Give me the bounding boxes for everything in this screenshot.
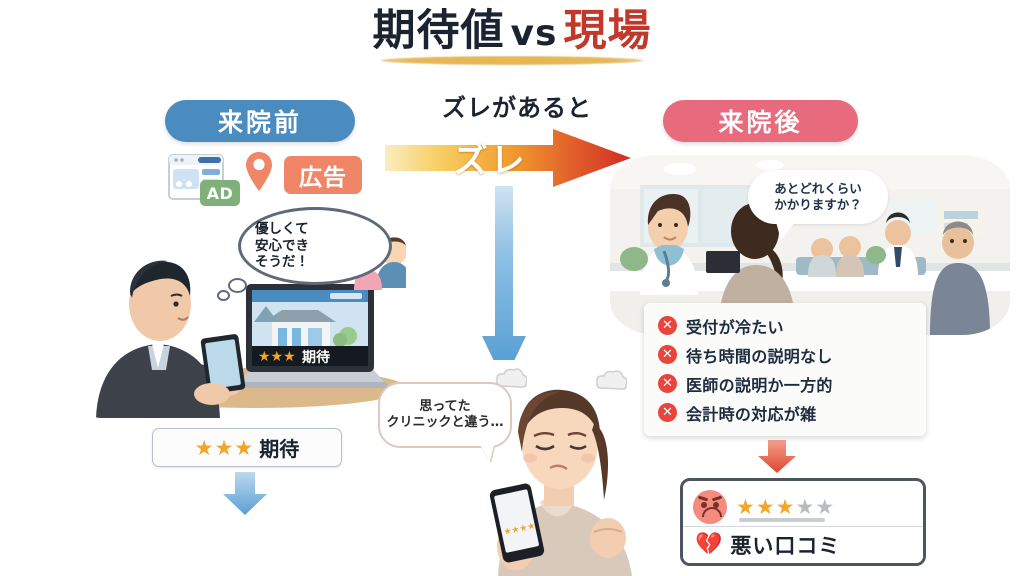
patient-question-text: あとどれくらい かかりますか？ <box>774 181 862 212</box>
complaint-text: 待ち時間の説明なし <box>686 343 833 367</box>
svg-text:期待: 期待 <box>302 349 330 366</box>
complaint-text: 医師の説明か一方的 <box>686 372 833 396</box>
star-filled-icon: ★ <box>736 495 756 519</box>
complaints-down-arrow <box>757 440 797 474</box>
complaint-row: ✕ 待ち時間の説明なし <box>658 340 926 369</box>
complaints-list: ✕ 受付が冷たい ✕ 待ち時間の説明なし ✕ 医師の説明か一方的 ✕ 会計時の対… <box>644 303 926 436</box>
angry-face-icon <box>693 490 727 524</box>
disappointed-speech-text: 思ってた クリニックと違う… <box>386 399 503 432</box>
section-pill-before-label: 来院前 <box>218 103 302 139</box>
x-circle-icon: ✕ <box>658 316 677 335</box>
arrow-down-icon <box>757 440 797 474</box>
center-down-arrow <box>481 186 527 384</box>
complaint-row: ✕ 受付が冷たい <box>658 311 926 340</box>
gap-caption: ズレがあると <box>392 88 642 123</box>
bad-review-card: ★★★★★ 💔 悪い口コミ <box>680 478 926 566</box>
x-circle-icon: ✕ <box>658 345 677 364</box>
thought-bubble-dot-small <box>217 290 230 301</box>
x-circle-icon: ✕ <box>658 403 677 422</box>
section-pill-before-visit: 来院前 <box>165 100 355 142</box>
infographic-canvas: 期待値vs現場 来院前 来院後 ズレがあると ズレ <box>0 0 1024 576</box>
star-filled-icon: ★ <box>756 495 776 519</box>
broken-heart-icon: 💔 <box>695 534 722 556</box>
star-empty-icon: ★ <box>815 495 835 519</box>
title-text: 期待値vs現場 <box>373 8 652 55</box>
title-left: 期待値 <box>373 6 505 56</box>
bad-review-label: 悪い口コミ <box>730 530 840 560</box>
arrow-down-icon <box>222 472 268 516</box>
page-title: 期待値vs現場 <box>0 8 1024 55</box>
bad-review-footer: 💔 悪い口コミ <box>683 526 923 563</box>
arrow-down-icon <box>481 186 527 384</box>
before-visit-thought-text: 優しくて 安心でき そうだ！ <box>241 221 309 270</box>
complaint-row: ✕ 会計時の対応が雑 <box>658 398 926 427</box>
section-pill-after-label: 来院後 <box>718 103 802 139</box>
star-empty-icon: ★ <box>795 495 815 519</box>
complaint-row: ✕ 医師の説明か一方的 <box>658 369 926 398</box>
title-vs: vs <box>505 13 564 54</box>
gap-arrow-right: ズレ <box>383 127 633 189</box>
before-visit-thought-bubble: 優しくて 安心でき そうだ！ <box>238 207 392 285</box>
map-pin-icon <box>244 150 274 194</box>
thought-bubble-dot-large <box>228 278 247 293</box>
patient-question-bubble: あとどれくらい かかりますか？ <box>748 170 888 224</box>
expectation-badge: ★★★ 期待 <box>152 428 342 467</box>
frustration-puff-right-icon <box>595 368 627 398</box>
expectation-stars: ★★★ <box>195 436 254 460</box>
title-right: 現場 <box>563 6 651 56</box>
expectation-label: 期待 <box>259 433 299 462</box>
expectation-down-arrow <box>222 472 268 516</box>
complaint-text: 会計時の対応が雑 <box>686 401 816 425</box>
title-underline-brush <box>381 56 644 65</box>
disappointed-speech-bubble: 思ってた クリニックと違う… <box>378 382 512 448</box>
complaint-text: 受付が冷たい <box>686 314 784 338</box>
x-circle-icon: ✕ <box>658 374 677 393</box>
ad-badge-icon: AD <box>200 180 240 206</box>
section-pill-after-visit: 来院後 <box>663 100 858 142</box>
star-filled-icon: ★ <box>776 495 796 519</box>
gap-arrow-right-icon <box>383 127 633 189</box>
svg-text:★★★: ★★★ <box>258 349 296 365</box>
bad-review-stars: ★★★★★ <box>736 497 835 518</box>
advertisement-label: 広告 <box>284 156 362 194</box>
